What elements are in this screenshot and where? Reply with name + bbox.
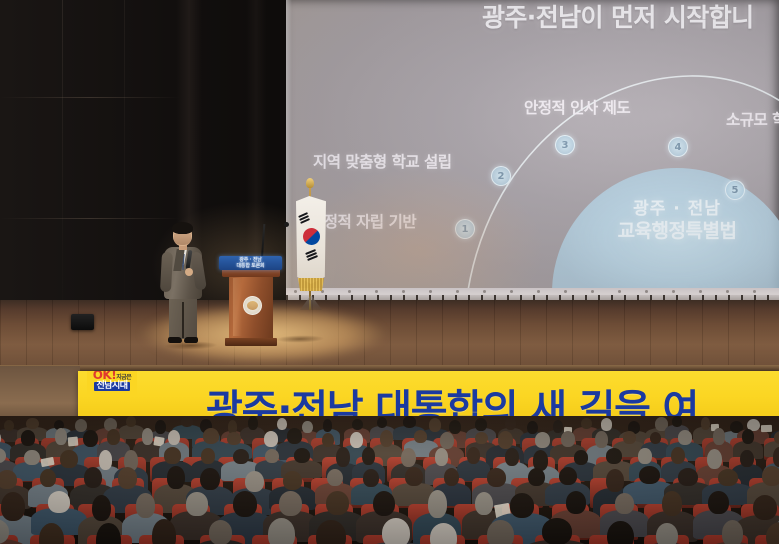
audience-person-head [75, 419, 87, 433]
screen-grommet [753, 290, 756, 293]
screen-grommet [564, 290, 567, 293]
audience-person-head [142, 428, 153, 444]
screen-grommet [375, 290, 378, 293]
audience-person-head [377, 417, 387, 428]
audience-person-head [203, 428, 219, 444]
audience-person-head [227, 432, 242, 445]
logo-small-text: 지금은 [116, 374, 131, 381]
audience-person-head [4, 420, 14, 431]
audience-person-head [24, 450, 39, 465]
screen-grommet [591, 290, 594, 293]
audience-person-head [566, 491, 587, 514]
audience-person-head [671, 447, 685, 464]
audience-paper-handout [761, 425, 772, 432]
audience-person-head [475, 432, 488, 445]
audience-person-head [327, 469, 343, 487]
audience-person-head [581, 418, 592, 429]
audience-person-head [574, 450, 589, 465]
audience-person-head [774, 431, 779, 444]
audience-person-head [107, 429, 120, 445]
podium: 광주 · 전남 대통합 토론회 [222, 254, 280, 346]
flag-fringe [298, 278, 324, 291]
audience-person-head [323, 419, 332, 431]
audience-person-head [186, 492, 207, 515]
audience-person-head [528, 468, 545, 487]
audience-person-head [200, 468, 219, 491]
podium-emblem [243, 296, 262, 315]
audience-person-head [248, 416, 258, 430]
audience-person-head [559, 467, 577, 485]
audience-person-head [99, 450, 112, 469]
audience-person-head [595, 431, 608, 448]
ok-jeonnam-logo: OK!지금은 전남시대 [87, 371, 137, 395]
audience-person-head [708, 491, 729, 514]
audience-person-head [405, 467, 423, 486]
audience-person-head [615, 493, 635, 514]
audience-person-head [283, 471, 302, 490]
audience-seating-area [0, 416, 779, 544]
speaker-person [160, 224, 206, 346]
audience-person-head [414, 430, 428, 443]
arc-label-3: 안정적 인사 제도 [524, 96, 630, 118]
audience-person-head [265, 449, 279, 464]
wall-panel-line [0, 97, 180, 98]
audience-person-head [601, 418, 613, 431]
audience-person-head [136, 493, 155, 517]
speaker-hand [185, 268, 193, 276]
audience-person-head [678, 430, 693, 445]
audience-person-shoulders [119, 425, 144, 439]
audience-person-head [542, 518, 572, 544]
audience-person-head [350, 432, 362, 448]
audience-person-head [264, 431, 278, 447]
audience-person-head [656, 523, 677, 544]
podium-sign-line2: 대통합 토론회 [219, 263, 282, 269]
speaker-leg-gap [182, 302, 184, 338]
audience-person-head [152, 519, 177, 544]
audience-person-head [201, 448, 215, 464]
audience-person-head [527, 421, 538, 434]
audience-person-head [606, 448, 622, 464]
audience-person-head [435, 448, 448, 466]
audience-person-head [40, 469, 56, 487]
audience-person-head [316, 520, 345, 544]
audience-person-head [279, 491, 301, 516]
audience-person-head [233, 491, 257, 517]
audience-person-head [429, 418, 442, 432]
floor-monitor-speaker [71, 314, 94, 330]
audience-person-head [21, 430, 35, 445]
audience-person-head [401, 448, 415, 468]
audience-person-head [467, 447, 480, 464]
audience-person-head [92, 495, 111, 521]
conference-photo-scene: 광주·전남이 먼저 시작합니 광주 · 전남 교육행정특별법 1 2 3 4 5… [0, 0, 779, 544]
audience-person-head [363, 469, 379, 487]
screen-grommet [699, 290, 702, 293]
audience-person-head [168, 430, 180, 446]
audience-person-head [762, 466, 779, 486]
audience-person-head [84, 467, 102, 488]
audience-person-head [245, 471, 264, 492]
podium-base [225, 338, 277, 346]
audience-person-head [718, 469, 739, 486]
audience-person-head [48, 491, 70, 513]
audience-person-head [209, 520, 232, 544]
audience-person-head [403, 416, 416, 427]
flag-finial [306, 178, 314, 188]
audience-person-head [181, 416, 193, 427]
audience-person-head [302, 421, 312, 434]
audience-person-head [475, 492, 493, 515]
speaker-face-shadow [174, 234, 191, 245]
arc-label-4: 소규모 학 [726, 108, 779, 130]
audience-person-head [83, 430, 98, 447]
audience-person-head [336, 447, 350, 467]
arc-node-4: 4 [668, 137, 688, 157]
screen-grommet [510, 290, 513, 293]
podium-emblem-inner [247, 301, 258, 310]
audience-person-head [773, 447, 779, 466]
audience-person-head [487, 468, 506, 487]
audience-person-head [487, 520, 514, 544]
audience-person-head [623, 431, 636, 444]
audience-person-head [0, 470, 17, 489]
audience-person-head [167, 466, 184, 489]
speaker-hair [172, 222, 193, 234]
audience-person-head [475, 418, 487, 431]
speaker-shoe-right [184, 337, 198, 343]
audience-person-head [553, 420, 562, 433]
audience-person-head [505, 417, 515, 430]
audience-person-head [753, 495, 777, 520]
screen-grommet [348, 290, 351, 293]
audience-person-head [60, 450, 77, 468]
podium-highlight [233, 278, 242, 336]
audience-person-head [326, 491, 349, 515]
screen-grommet [483, 290, 486, 293]
audience-person-head [561, 431, 576, 447]
arc-node-2: 2 [491, 166, 511, 186]
audience-person-head [164, 447, 181, 464]
audience-person-head [662, 491, 682, 516]
speaker-shoe-left [168, 337, 182, 343]
screen-grommet [402, 290, 405, 293]
microphone-head-icon [284, 222, 289, 227]
slide-center-label: 광주 · 전남 교육행정특별법 [552, 200, 779, 242]
screen-grommet [672, 290, 675, 293]
flag-stand [300, 296, 322, 310]
audience-person-head [1, 492, 25, 521]
audience-person-head [444, 468, 459, 487]
audience-person-head [505, 448, 518, 466]
audience-person-head [740, 450, 753, 468]
audience-person-head [713, 428, 724, 445]
audience-person-head [322, 433, 334, 447]
korean-flag [288, 178, 332, 310]
audience-person-head [639, 466, 660, 484]
audience-person-head [373, 491, 395, 516]
slide-title: 광주·전남이 먼저 시작합니 [482, 0, 754, 34]
audience-person-head [268, 518, 295, 544]
audience-person-head [742, 429, 754, 444]
audience-person-head [707, 449, 722, 469]
audience-person-head [678, 468, 698, 486]
arc-node-5: 5 [725, 180, 745, 200]
podium-sign: 광주 · 전남 대통합 토론회 [219, 256, 282, 270]
screen-grommet [645, 290, 648, 293]
screen-grommet [726, 290, 729, 293]
audience-person-head [722, 520, 744, 544]
audience-person-head [606, 469, 624, 492]
stage-floor [0, 300, 779, 372]
screen-grommet [618, 290, 621, 293]
audience-person-head [535, 432, 550, 448]
arc-node-1: 1 [455, 219, 475, 239]
audience-person-head [638, 448, 651, 464]
audience-person-head [55, 428, 67, 445]
audience-person-head [440, 432, 454, 449]
audience-person-head [26, 418, 38, 429]
arc-label-2: 지역 맞춤형 학교 설립 [313, 150, 452, 172]
center-label-line2: 교육행정특별법 [552, 220, 779, 242]
audience-person-head [510, 493, 535, 518]
floor-planks [0, 300, 779, 372]
audience-person-head [155, 420, 166, 434]
speaker-arm-left [160, 252, 173, 293]
audience-person-head [294, 448, 310, 463]
audience-person-head [362, 447, 375, 465]
audience-person-head [428, 490, 447, 518]
audience-person-head [118, 467, 138, 490]
projection-screen: 광주·전남이 먼저 시작합니 광주 · 전남 교육행정특별법 1 2 3 4 5… [286, 0, 779, 302]
audience-person-head [287, 428, 302, 444]
audience-person-head [352, 419, 362, 430]
logo-bottom-line: 전남시대 [94, 382, 129, 391]
audience-person-head [233, 449, 249, 465]
audience-person-head [449, 420, 461, 434]
audience-person-head [701, 417, 711, 430]
audience-person-head [382, 518, 410, 544]
screen-grommet [537, 290, 540, 293]
audience-person-head [277, 418, 287, 430]
logo-top-line: OK!지금은 [93, 371, 132, 381]
audience-person-head [672, 416, 682, 427]
screen-grommet [429, 290, 432, 293]
wall-panel-line [0, 218, 180, 219]
arc-node-3: 3 [555, 135, 575, 155]
audience-person-head [498, 431, 513, 449]
center-label-line1: 광주 · 전남 [552, 200, 779, 220]
screen-grommet [456, 290, 459, 293]
